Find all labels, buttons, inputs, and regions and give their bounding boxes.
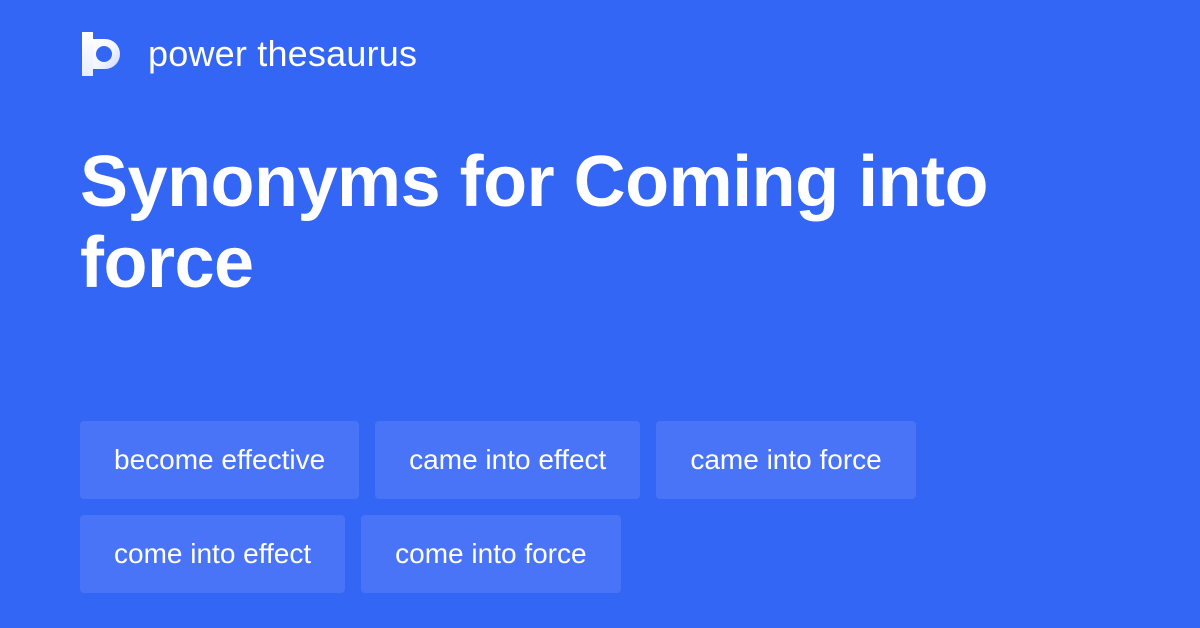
synonym-chip[interactable]: become effective <box>80 421 359 499</box>
synonym-chip[interactable]: come into effect <box>80 515 345 593</box>
brand-name: power thesaurus <box>148 36 417 72</box>
brand-header[interactable]: power thesaurus <box>80 30 417 78</box>
power-thesaurus-b-logo-icon <box>80 30 128 78</box>
share-card: power thesaurus Synonyms for Coming into… <box>0 0 1200 628</box>
synonym-chip[interactable]: came into effect <box>375 421 640 499</box>
synonym-chip[interactable]: come into force <box>361 515 620 593</box>
synonym-chip[interactable]: came into force <box>656 421 915 499</box>
synonym-chip-list: become effective came into effect came i… <box>80 421 1140 593</box>
page-title: Synonyms for Coming into force <box>80 142 1140 303</box>
